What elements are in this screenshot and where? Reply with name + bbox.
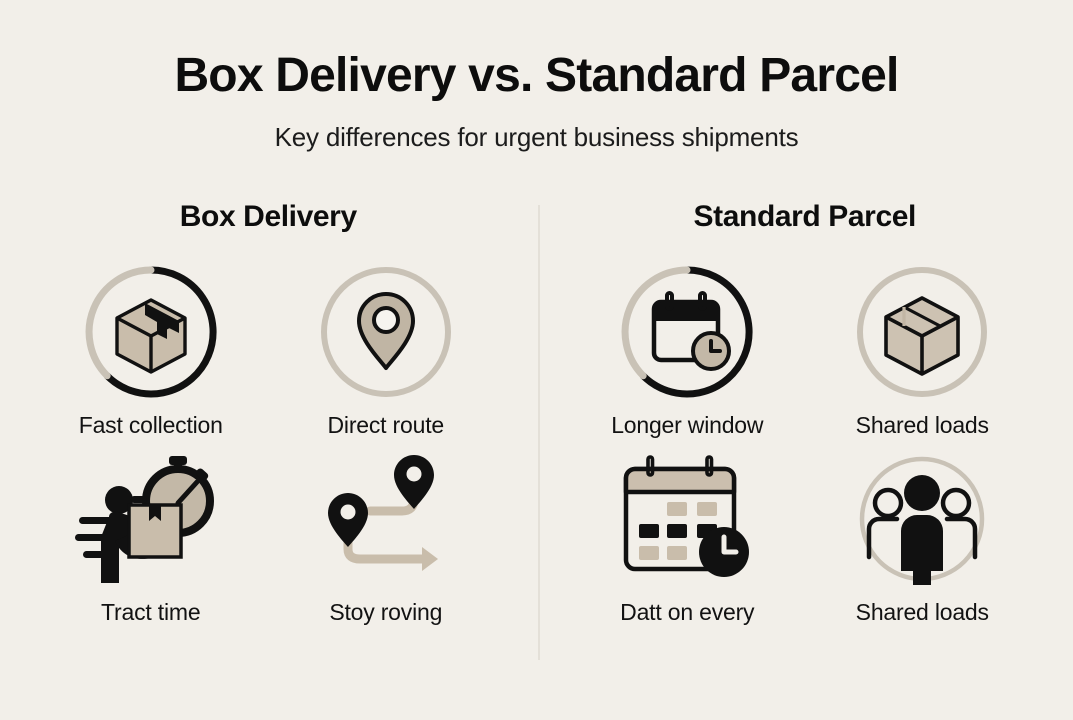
calendar-grid-clock-icon [617,455,757,583]
column-box-delivery: Box Delivery [0,200,537,636]
icon-wrap [83,262,219,402]
feature-caption: Fast collection [79,412,223,439]
people-group-ring-icon [854,453,990,585]
map-pin-ring-icon [318,264,454,400]
feature-caption: Datt on every [620,599,754,626]
feature-caption: Tract time [101,599,200,626]
column-standard-parcel: Standard Parcel [537,200,1073,636]
courier-stopwatch-icon [75,455,227,583]
icon-wrap [619,262,755,402]
comparison-columns: Box Delivery [0,200,1073,636]
feature-shared-loads-top: Shared loads [805,262,1040,449]
column-title-standard-parcel: Standard Parcel [694,200,916,234]
feature-fast-collection: Fast collection [33,262,268,449]
box-outline-ring-icon [854,264,990,400]
icon-wrap [318,262,454,402]
feature-stoy-roving: Stoy roving [268,449,503,636]
feature-direct-route: Direct route [268,262,503,449]
feature-caption: Longer window [611,412,763,439]
icon-grid-standard-parcel: Longer window [570,262,1040,636]
page-title: Box Delivery vs. Standard Parcel [0,52,1073,100]
feature-longer-window: Longer window [570,262,805,449]
page-subtitle: Key differences for urgent business ship… [0,122,1073,153]
feature-shared-loads-bottom: Shared loads [805,449,1040,636]
calendar-clock-ring-icon [619,264,755,400]
header: Box Delivery vs. Standard Parcel Key dif… [0,0,1073,153]
feature-caption: Direct route [328,412,444,439]
infographic-page: Box Delivery vs. Standard Parcel Key dif… [0,0,1073,720]
feature-tract-time: Tract time [33,449,268,636]
route-pins-arrow-icon [318,453,454,585]
icon-wrap [318,449,454,589]
icon-wrap [854,449,990,589]
icon-wrap [617,449,757,589]
icon-grid-box-delivery: Fast collection Direct route [33,262,503,636]
feature-caption: Stoy roving [329,599,442,626]
icon-wrap [75,449,227,589]
feature-caption: Shared loads [856,412,989,439]
feature-datt-on-every: Datt on every [570,449,805,636]
box-3d-ring-icon [83,264,219,400]
icon-wrap [854,262,990,402]
column-title-box-delivery: Box Delivery [180,200,357,234]
feature-caption: Shared loads [856,599,989,626]
